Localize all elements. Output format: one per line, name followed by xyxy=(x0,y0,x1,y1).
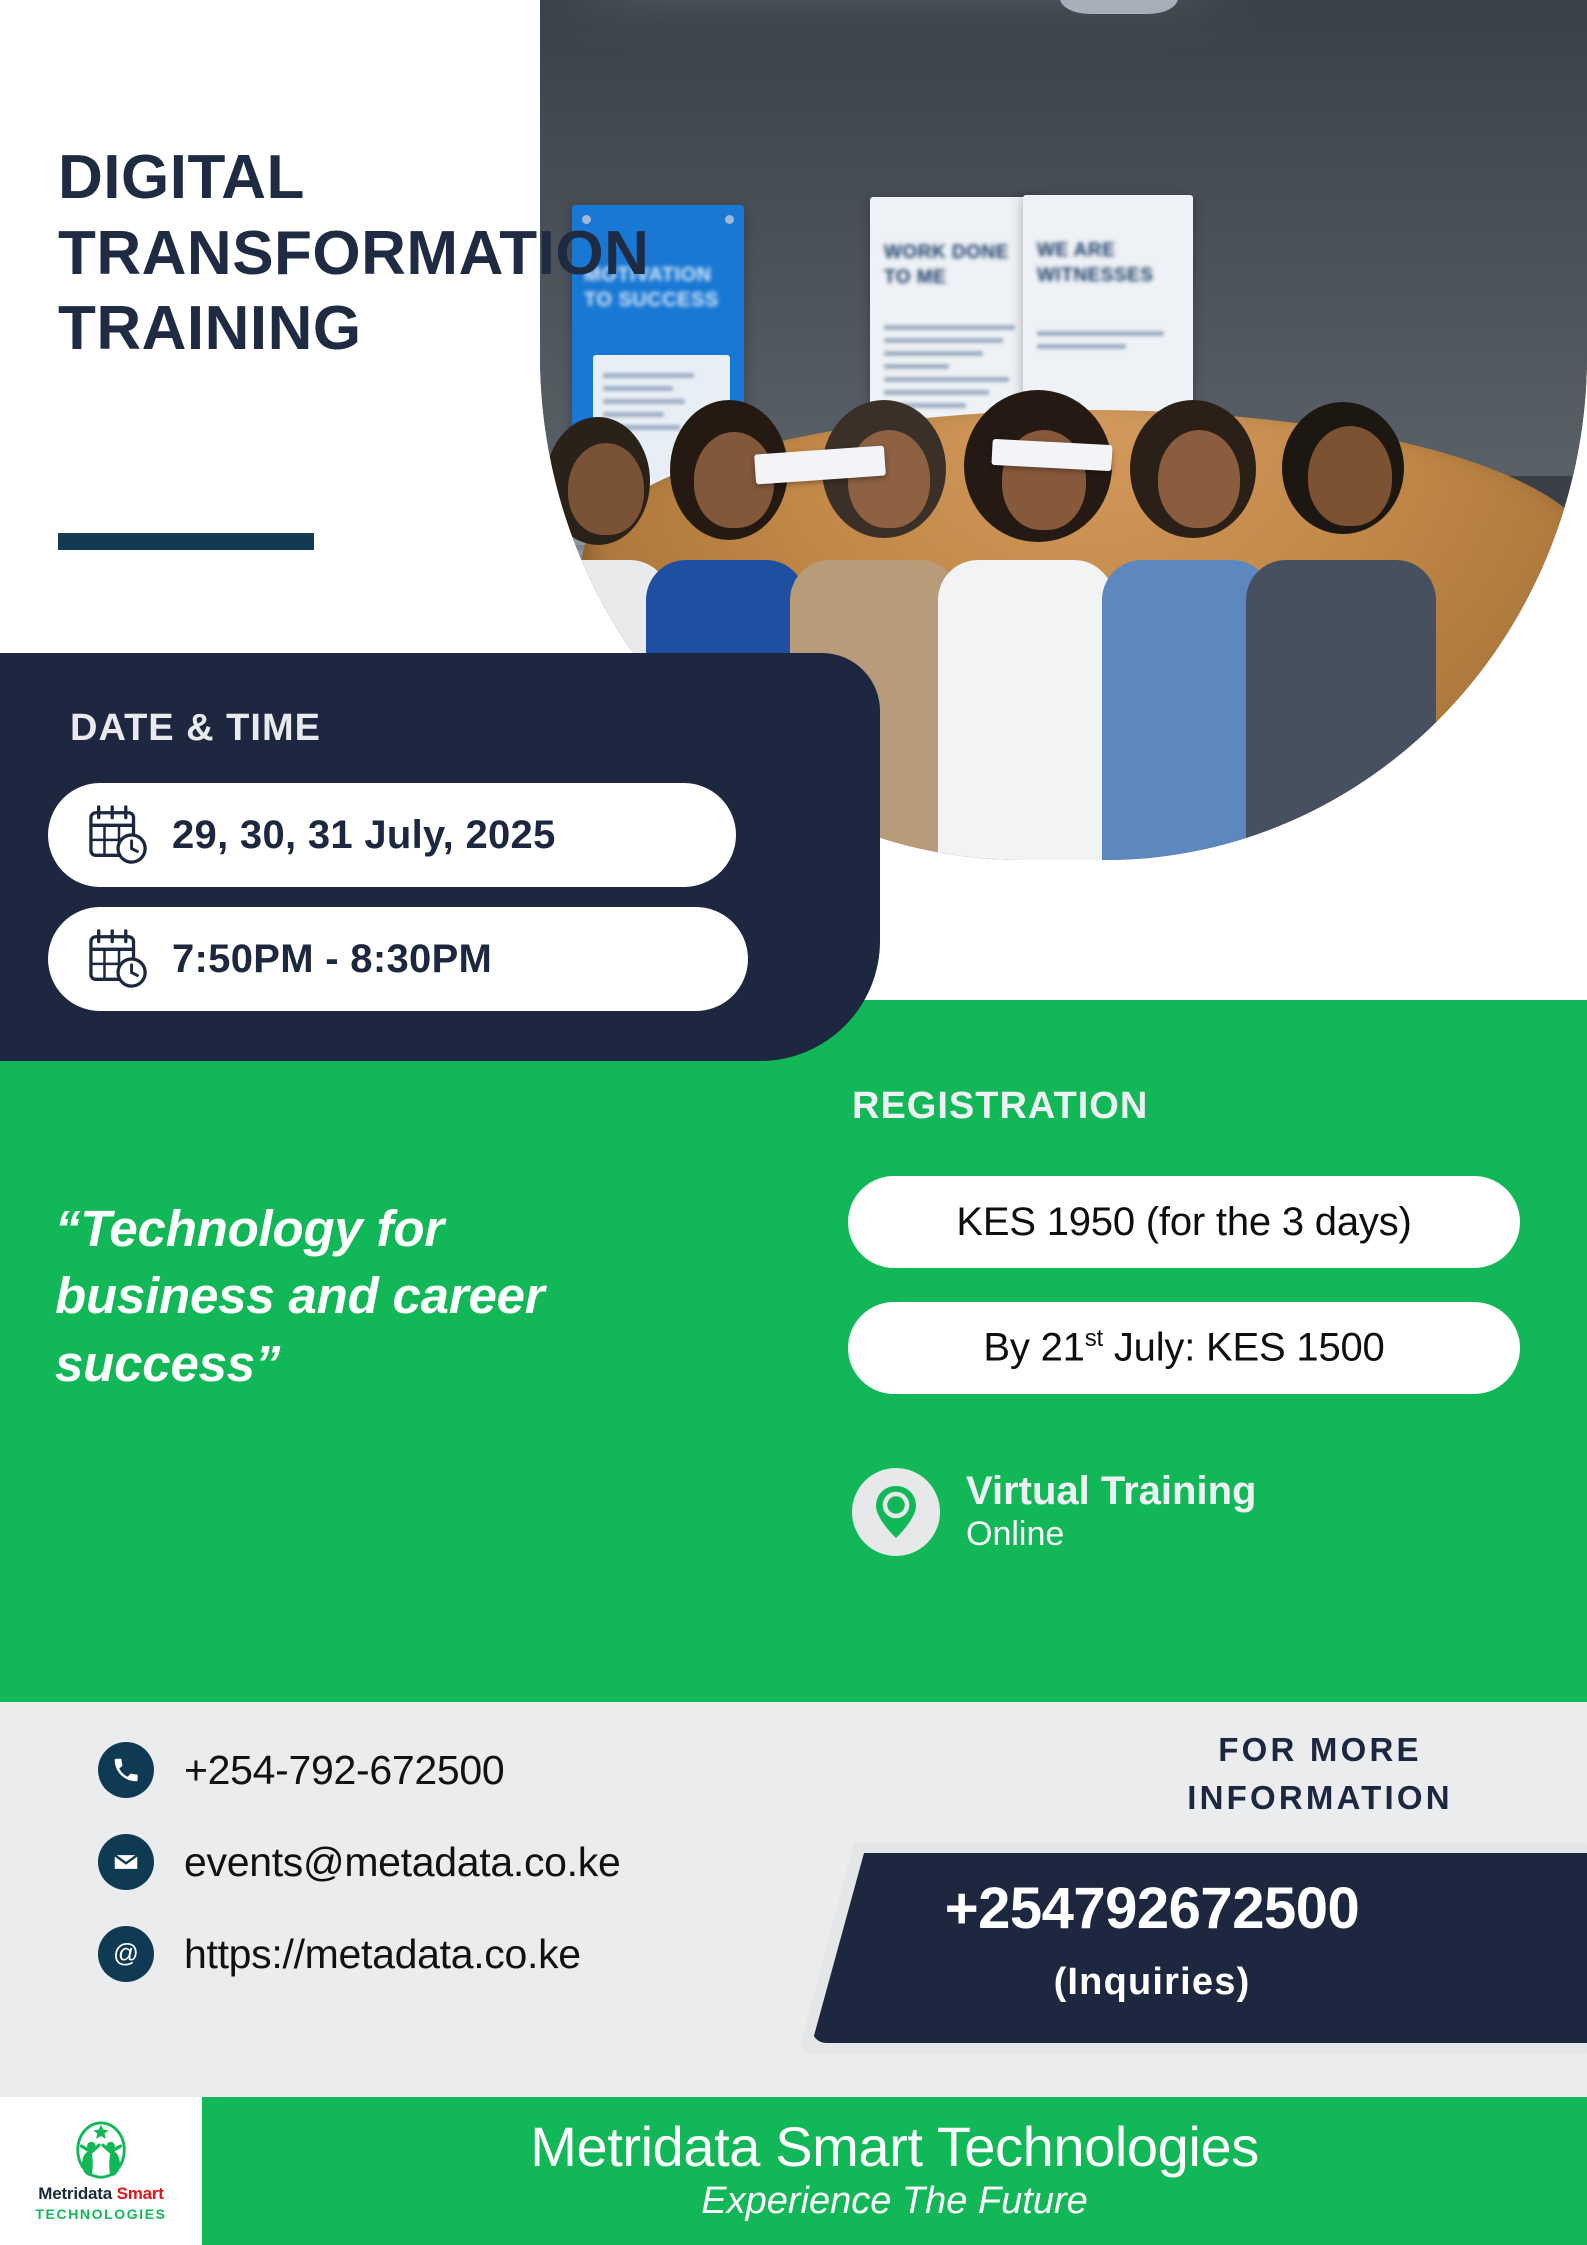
contact-website-row[interactable]: @ https://metadata.co.ke xyxy=(98,1919,620,1989)
contact-phone-row[interactable]: +254-792-672500 xyxy=(98,1735,620,1805)
for-more-information-heading: FOR MORE INFORMATION xyxy=(1120,1726,1520,1822)
location-pin-icon-wrapper xyxy=(852,1468,940,1556)
venue-block: Virtual Training Online xyxy=(852,1468,1256,1556)
logo-word-metridata: Metridata xyxy=(38,2184,112,2203)
logo-wordmark: Metridata Smart xyxy=(38,2184,164,2204)
fmi-line-1: FOR MORE xyxy=(1120,1726,1520,1774)
location-pin-icon xyxy=(870,1483,922,1541)
fmi-line-2: INFORMATION xyxy=(1120,1774,1520,1822)
inquiries-banner[interactable]: +254792672500 (Inquiries) xyxy=(812,1853,1587,2043)
email-icon xyxy=(98,1834,154,1890)
svg-text:@: @ xyxy=(113,1940,139,1968)
registration-option-1-text: KES 1950 (for the 3 days) xyxy=(956,1200,1411,1245)
contact-list: +254-792-672500 events@metadata.co.ke @ … xyxy=(98,1735,620,2011)
contact-email-value: events@metadata.co.ke xyxy=(184,1839,620,1886)
page-title: DIGITAL TRANSFORMATION TRAINING xyxy=(58,140,758,367)
at-sign-icon: @ xyxy=(98,1926,154,1982)
registration-label: REGISTRATION xyxy=(852,1085,1148,1128)
early-bird-prefix: By 21 xyxy=(983,1326,1084,1370)
title-line-2: TRANSFORMATION xyxy=(58,216,758,292)
contact-website-value: https://metadata.co.ke xyxy=(184,1931,581,1978)
people-leaf-emblem-icon xyxy=(70,2120,132,2182)
time-pill[interactable]: 7:50PM - 8:30PM xyxy=(48,907,748,1011)
time-value: 7:50PM - 8:30PM xyxy=(172,937,492,982)
company-logo: Metridata Smart TECHNOLOGIES xyxy=(0,2097,202,2245)
registration-option-2[interactable]: By 21st July: KES 1500 xyxy=(848,1302,1520,1394)
title-line-1: DIGITAL xyxy=(58,140,758,216)
wall-poster-3-heading: WE ARE WITNESSES xyxy=(1037,239,1181,288)
logo-word-technologies: TECHNOLOGIES xyxy=(35,2206,166,2222)
calendar-clock-icon xyxy=(88,805,150,865)
wall-poster-2-heading: WORK DONE TO ME xyxy=(884,241,1026,290)
ordinal-suffix: st xyxy=(1085,1325,1103,1352)
contact-phone-value: +254-792-672500 xyxy=(184,1747,504,1794)
venue-subtitle: Online xyxy=(966,1514,1256,1555)
title-line-3: TRAINING xyxy=(58,291,758,367)
title-divider xyxy=(58,533,314,550)
date-time-label: DATE & TIME xyxy=(70,707,321,750)
date-pill[interactable]: 29, 30, 31 July, 2025 xyxy=(48,783,736,887)
date-value: 29, 30, 31 July, 2025 xyxy=(172,813,556,858)
quote-text: “Technology for business and career succ… xyxy=(55,1195,575,1397)
logo-word-smart: Smart xyxy=(117,2184,164,2203)
early-bird-suffix: July: KES 1500 xyxy=(1103,1326,1385,1370)
inquiries-phone: +254792672500 xyxy=(812,1875,1492,1942)
inquiries-note: (Inquiries) xyxy=(812,1961,1492,2004)
ceiling-light-secondary-icon xyxy=(1060,0,1178,14)
registration-option-2-text: By 21st July: KES 1500 xyxy=(983,1325,1384,1370)
footer-branding: Metridata Smart Technologies Experience … xyxy=(202,2097,1587,2245)
calendar-clock-icon xyxy=(88,929,150,989)
phone-icon xyxy=(98,1742,154,1798)
venue-title: Virtual Training xyxy=(966,1469,1256,1514)
footer-company-name: Metridata Smart Technologies xyxy=(530,2116,1259,2178)
registration-option-1[interactable]: KES 1950 (for the 3 days) xyxy=(848,1176,1520,1268)
footer-tagline: Experience The Future xyxy=(701,2177,1088,2226)
contact-email-row[interactable]: events@metadata.co.ke xyxy=(98,1827,620,1897)
